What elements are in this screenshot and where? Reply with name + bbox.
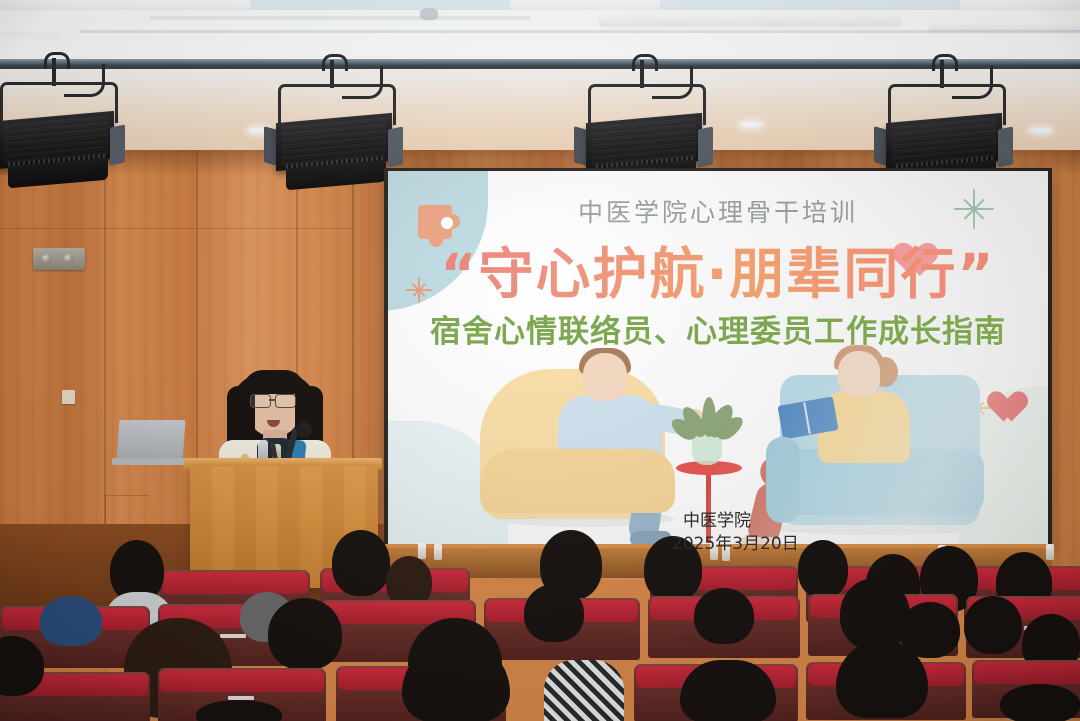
slide-organization: 中医学院 xyxy=(683,506,751,531)
glasses-icon xyxy=(250,394,271,408)
audience-head xyxy=(1000,684,1080,721)
laptop-base xyxy=(112,458,192,465)
lecture-hall-photo: 中医学院心理骨干培训 “守心护航·朋辈同行” 宿舍心情联络员、心理委员工作成长指… xyxy=(0,0,1080,721)
truss-cable xyxy=(0,66,1080,69)
slide-title: “守心护航·朋辈同行” xyxy=(388,229,1048,309)
slide-header-text: 中医学院心理骨干培训 xyxy=(388,193,1048,229)
audience-head xyxy=(332,530,390,596)
wall-fixture-plate xyxy=(33,248,85,270)
audience-head xyxy=(680,660,776,721)
audience-head xyxy=(694,588,754,644)
lighting-truss xyxy=(0,59,1080,66)
audience-head xyxy=(524,584,584,642)
downlight-icon xyxy=(1030,128,1052,133)
laptop-screen xyxy=(117,420,186,462)
audience-head xyxy=(798,540,848,598)
audience-head xyxy=(840,578,910,650)
audience-head xyxy=(964,596,1022,654)
slide-date: 2025年3月20日 xyxy=(672,529,799,553)
downlight-icon xyxy=(740,122,762,127)
water-bottle xyxy=(1046,544,1054,560)
audience-head-with-cap xyxy=(40,596,102,646)
microphone-head-icon xyxy=(296,422,312,438)
water-bottles-group xyxy=(418,543,498,559)
projection-screen: 中医学院心理骨干培训 “守心护航·朋辈同行” 宿舍心情联络员、心理委员工作成长指… xyxy=(388,171,1048,553)
audience-head xyxy=(268,598,342,670)
audience-shoulders xyxy=(544,660,624,721)
slide-subtitle: 宿舍心情联络员、心理委员工作成长指南 xyxy=(388,306,1048,351)
puzzle-notch-icon xyxy=(441,217,453,229)
heart-red-icon xyxy=(980,379,1016,412)
smoke-detector-icon xyxy=(420,8,438,18)
glasses-icon xyxy=(275,394,296,408)
wall-switch[interactable] xyxy=(62,390,75,404)
